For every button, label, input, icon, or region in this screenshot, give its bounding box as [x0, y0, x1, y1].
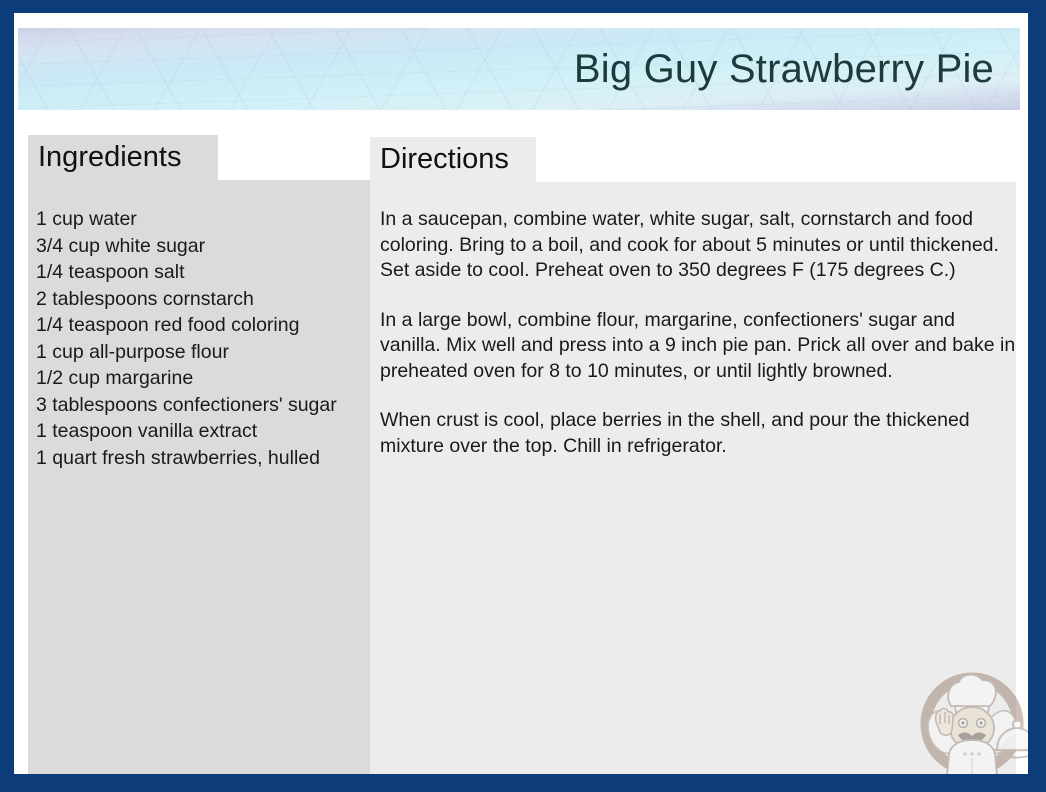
- direction-paragraph: When crust is cool, place berries in the…: [380, 408, 1018, 459]
- direction-paragraph: In a saucepan, combine water, white suga…: [380, 207, 1018, 284]
- ingredient-item: 3/4 cup white sugar: [36, 233, 366, 260]
- ingredients-heading: Ingredients: [38, 143, 182, 172]
- direction-paragraph: In a large bowl, combine flour, margarin…: [380, 308, 1018, 385]
- ingredient-item: 1 teaspoon vanilla extract: [36, 418, 366, 445]
- directions-body: In a saucepan, combine water, white suga…: [380, 207, 1018, 459]
- ingredient-item: 1/2 cup margarine: [36, 365, 366, 392]
- page-title: Big Guy Strawberry Pie: [574, 49, 1020, 89]
- ingredient-item: 1 cup water: [36, 206, 366, 233]
- recipe-card: Big Guy Strawberry Pie: [0, 0, 1046, 792]
- directions-heading: Directions: [380, 145, 509, 174]
- ingredient-item: 1 quart fresh strawberries, hulled: [36, 445, 366, 472]
- ingredients-list: 1 cup water3/4 cup white sugar1/4 teaspo…: [36, 206, 366, 471]
- ingredient-item: 3 tablespoons confectioners' sugar: [36, 392, 366, 419]
- ingredient-item: 1/4 teaspoon salt: [36, 259, 366, 286]
- ingredient-item: 1/4 teaspoon red food coloring: [36, 312, 366, 339]
- title-banner: Big Guy Strawberry Pie: [18, 28, 1020, 110]
- ingredient-item: 1 cup all-purpose flour: [36, 339, 366, 366]
- ingredient-item: 2 tablespoons cornstarch: [36, 286, 366, 313]
- recipe-page: Big Guy Strawberry Pie: [14, 13, 1028, 774]
